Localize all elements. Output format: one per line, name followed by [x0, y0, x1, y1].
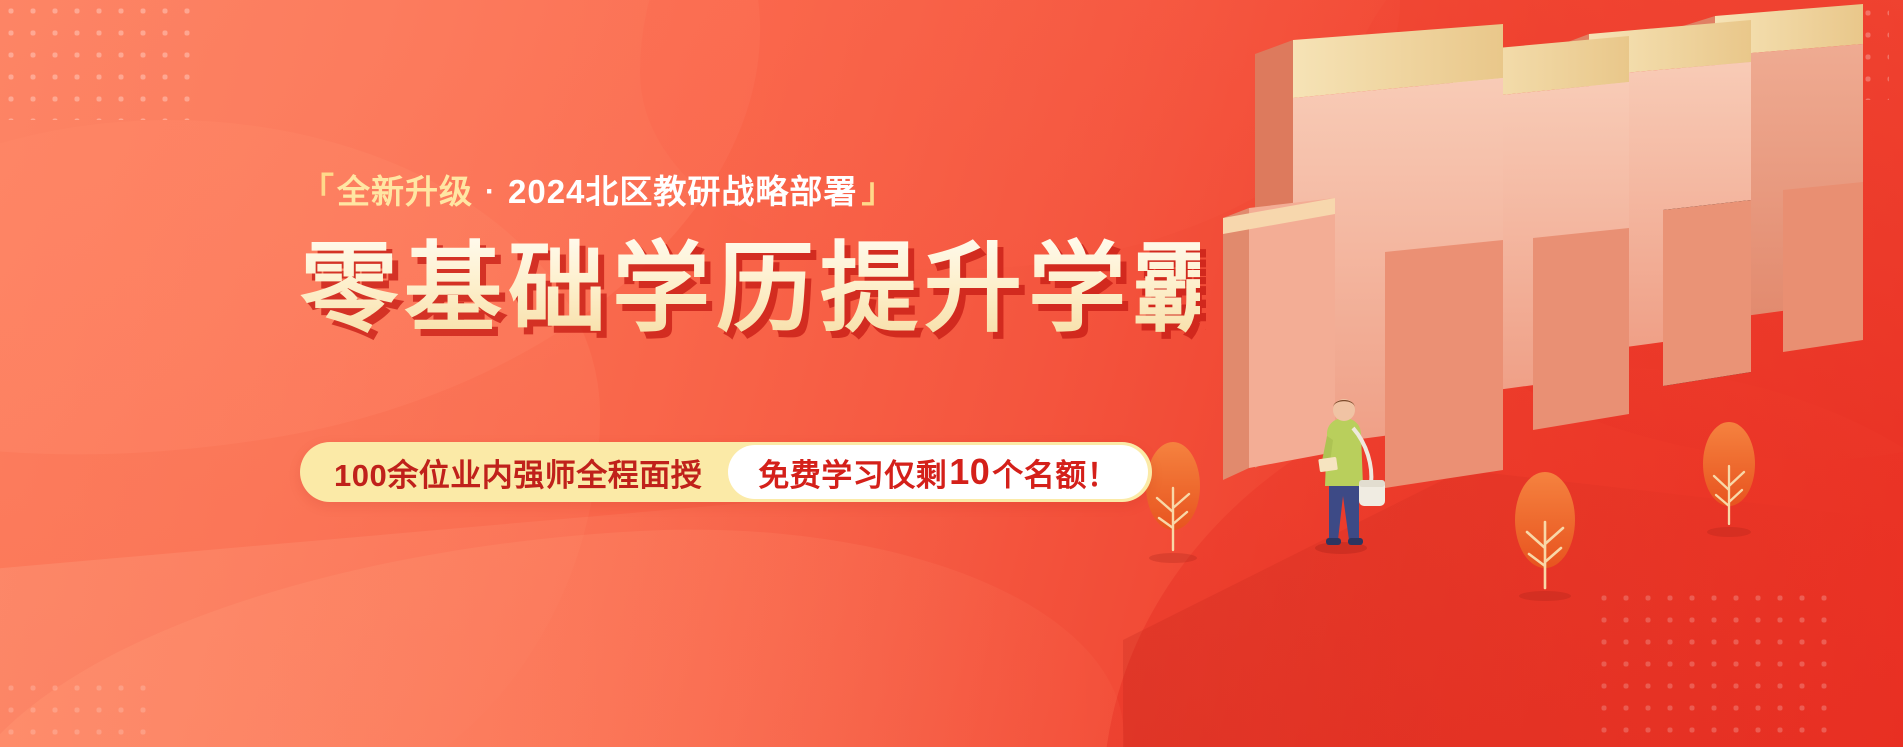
eyebrow-white-text: 2024北区教研战略部署 [508, 171, 857, 212]
eyebrow-highlight: 全新升级 [337, 171, 473, 212]
dot-pattern-top-left [0, 0, 190, 120]
dot-pattern-bottom-left [0, 677, 150, 747]
copy-block: 「 全新升级 · 2024北区教研战略部署 」 零基础学历提升学霸班 100余位… [300, 170, 1200, 502]
headline-title: 零基础学历提升学霸班 [300, 237, 1200, 341]
promo-banner: 「 全新升级 · 2024北区教研战略部署 」 零基础学历提升学霸班 100余位… [0, 0, 1903, 747]
pill-seats-count: 10 [947, 451, 992, 493]
dot-pattern-top-right [1769, 2, 1889, 100]
dot-pattern-bottom-right [1593, 587, 1843, 747]
eyebrow-line: 「 全新升级 · 2024北区教研战略部署 」 [300, 170, 1200, 213]
pill-seats-prefix: 免费学习仅剩 [758, 450, 947, 495]
pill-seats-remaining: 免费学习仅剩 10 个名额！ [728, 445, 1148, 499]
eyebrow-separator: · [485, 173, 496, 211]
bracket-open: 「 [300, 170, 335, 213]
offer-pill-group[interactable]: 100余位业内强师全程面授 免费学习仅剩 10 个名额！ [300, 442, 1152, 502]
bracket-close: 」 [861, 170, 896, 213]
pill-teachers-label: 100余位业内强师全程面授 [300, 442, 728, 502]
pill-seats-suffix: 个名额！ [992, 450, 1118, 495]
